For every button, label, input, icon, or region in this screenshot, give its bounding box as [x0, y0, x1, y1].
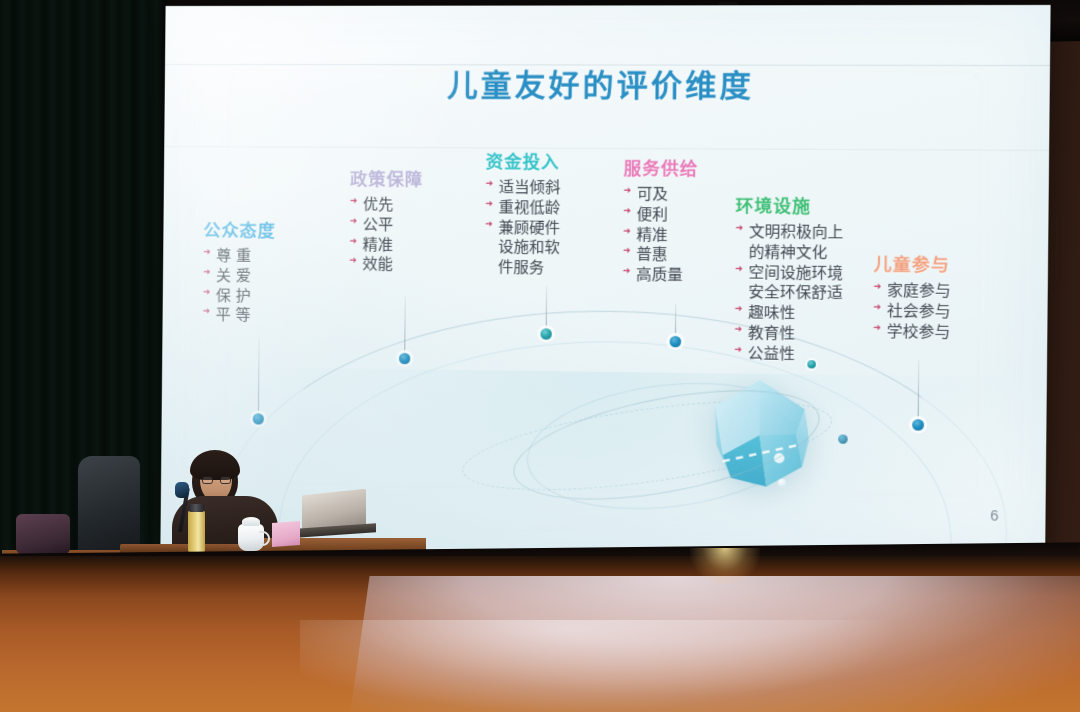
- list-item: 空间设施环境 安全环保舒适: [735, 263, 843, 305]
- list-item: 公益性: [734, 344, 842, 366]
- pink-card: [272, 521, 300, 547]
- dimension-column-policy-guarantee: 政策保障 优先 公平 精准 效能: [349, 165, 423, 276]
- connector-dot: [912, 419, 924, 431]
- list-item: 兼顾硬件 设施和软 件服务: [485, 218, 561, 279]
- list-item: 公平: [349, 215, 422, 236]
- column-item-list: 可及 便利 精准 普惠 高质量: [623, 185, 699, 287]
- list-item: 可及: [623, 185, 698, 206]
- column-item-list: 文明积极向上 的精神文化 空间设施环境 安全环保舒适 趣味性 教育性 公益性: [734, 222, 843, 365]
- dimension-column-public-attitude: 公众态度 尊 重 关 爱 保 护 平 等: [203, 216, 276, 326]
- connector-dot: [670, 336, 682, 347]
- column-item-list: 家庭参与 社会参与 学校参与: [873, 281, 951, 343]
- slide-number: 6: [990, 507, 998, 524]
- list-item: 精准: [623, 225, 698, 246]
- teacup: [238, 524, 264, 551]
- list-item: 效能: [349, 255, 422, 276]
- column-heading: 服务供给: [624, 154, 699, 180]
- microphone-icon: [175, 482, 189, 498]
- column-heading: 儿童参与: [874, 250, 952, 276]
- list-item: 重视低龄: [485, 198, 560, 219]
- list-item: 优先: [350, 195, 423, 215]
- list-item: 社会参与: [873, 301, 951, 322]
- thermos-bottle: [188, 510, 205, 552]
- list-item: 保 护: [203, 286, 276, 307]
- glasses-icon: [202, 476, 231, 484]
- slide-title: 儿童友好的评价维度: [165, 60, 1050, 106]
- list-item: 高质量: [623, 265, 698, 286]
- bag: [16, 514, 70, 554]
- floor-light-reflection-secondary: [300, 620, 900, 712]
- list-item: 精准: [349, 235, 422, 256]
- connector-dot: [540, 328, 551, 339]
- column-heading: 政策保障: [350, 165, 423, 191]
- column-item-list: 尊 重 关 爱 保 护 平 等: [203, 246, 276, 326]
- list-item: 适当倾斜: [485, 178, 560, 199]
- column-item-list: 优先 公平 精准 效能: [349, 195, 423, 275]
- connector-dot: [253, 413, 264, 424]
- column-heading: 环境设施: [736, 191, 844, 217]
- list-item: 学校参与: [873, 321, 951, 342]
- column-item-list: 适当倾斜 重视低龄 兼顾硬件 设施和软 件服务: [485, 178, 561, 279]
- orbit-bead: [778, 479, 786, 487]
- list-item: 文明积极向上 的精神文化: [735, 222, 843, 263]
- column-heading: 资金投入: [486, 147, 561, 173]
- list-item: 便利: [623, 205, 698, 226]
- connector-dot: [807, 360, 815, 368]
- connector-dot: [399, 353, 410, 364]
- list-item: 教育性: [734, 323, 842, 345]
- list-item: 尊 重: [203, 246, 276, 266]
- column-heading: 公众态度: [203, 216, 276, 242]
- dimension-column-funding: 资金投入 适当倾斜 重视低龄 兼顾硬件 设施和软 件服务: [485, 147, 561, 278]
- dimension-column-service-supply: 服务供给 可及 便利 精准 普惠 高质量: [623, 154, 699, 286]
- light-flare: [690, 548, 760, 584]
- list-item: 关 爱: [203, 266, 276, 287]
- list-item: 普惠: [623, 245, 698, 266]
- dimension-column-child-participation: 儿童参与 家庭参与 社会参与 学校参与: [873, 250, 951, 343]
- orbit-bead: [838, 434, 848, 443]
- auditorium-scene: 儿童友好的评价维度 公众态度 尊 重 关 爱 保 护 平 等 政策保障 优先 公…: [0, 0, 1080, 712]
- list-item: 平 等: [203, 306, 276, 327]
- list-item: 家庭参与: [873, 281, 951, 302]
- dimension-column-environment-facilities: 环境设施 文明积极向上 的精神文化 空间设施环境 安全环保舒适 趣味性 教育性 …: [734, 191, 844, 365]
- list-item: 趣味性: [734, 303, 842, 324]
